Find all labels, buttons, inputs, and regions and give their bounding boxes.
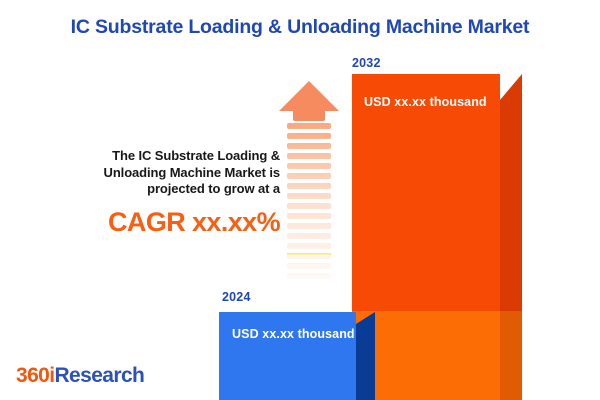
bar-2032-year-label: 2032 — [352, 56, 381, 70]
cagr-statement-line-1: The IC Substrate Loading & — [44, 148, 280, 165]
bar-2032-value-label: USD xx.xx thousand — [364, 95, 487, 109]
bar-2024-year-label: 2024 — [222, 290, 251, 304]
bar-2024-value-label: USD xx.xx thousand — [232, 327, 355, 341]
cagr-value: CAGR xx.xx% — [44, 207, 280, 238]
bar-2032-side-face-lower — [500, 311, 522, 400]
bar-2024-front-face — [219, 312, 356, 400]
brand-logo-part-research: Research — [54, 364, 144, 387]
brand-logo: 360iResearch — [16, 364, 144, 388]
bar-2024-side-face — [356, 312, 375, 400]
up-arrow-icon — [277, 79, 341, 283]
cagr-statement-line-3: projected to grow at a — [44, 181, 280, 198]
infographic-canvas: IC Substrate Loading & Unloading Machine… — [0, 0, 600, 400]
brand-logo-part-360i: 360i — [16, 364, 54, 387]
cagr-callout: The IC Substrate Loading & Unloading Mac… — [44, 148, 280, 238]
cagr-statement: The IC Substrate Loading & Unloading Mac… — [44, 148, 280, 198]
bar-2032-front-face — [352, 74, 500, 311]
cagr-statement-line-2: Unloading Machine Market is — [44, 165, 280, 182]
